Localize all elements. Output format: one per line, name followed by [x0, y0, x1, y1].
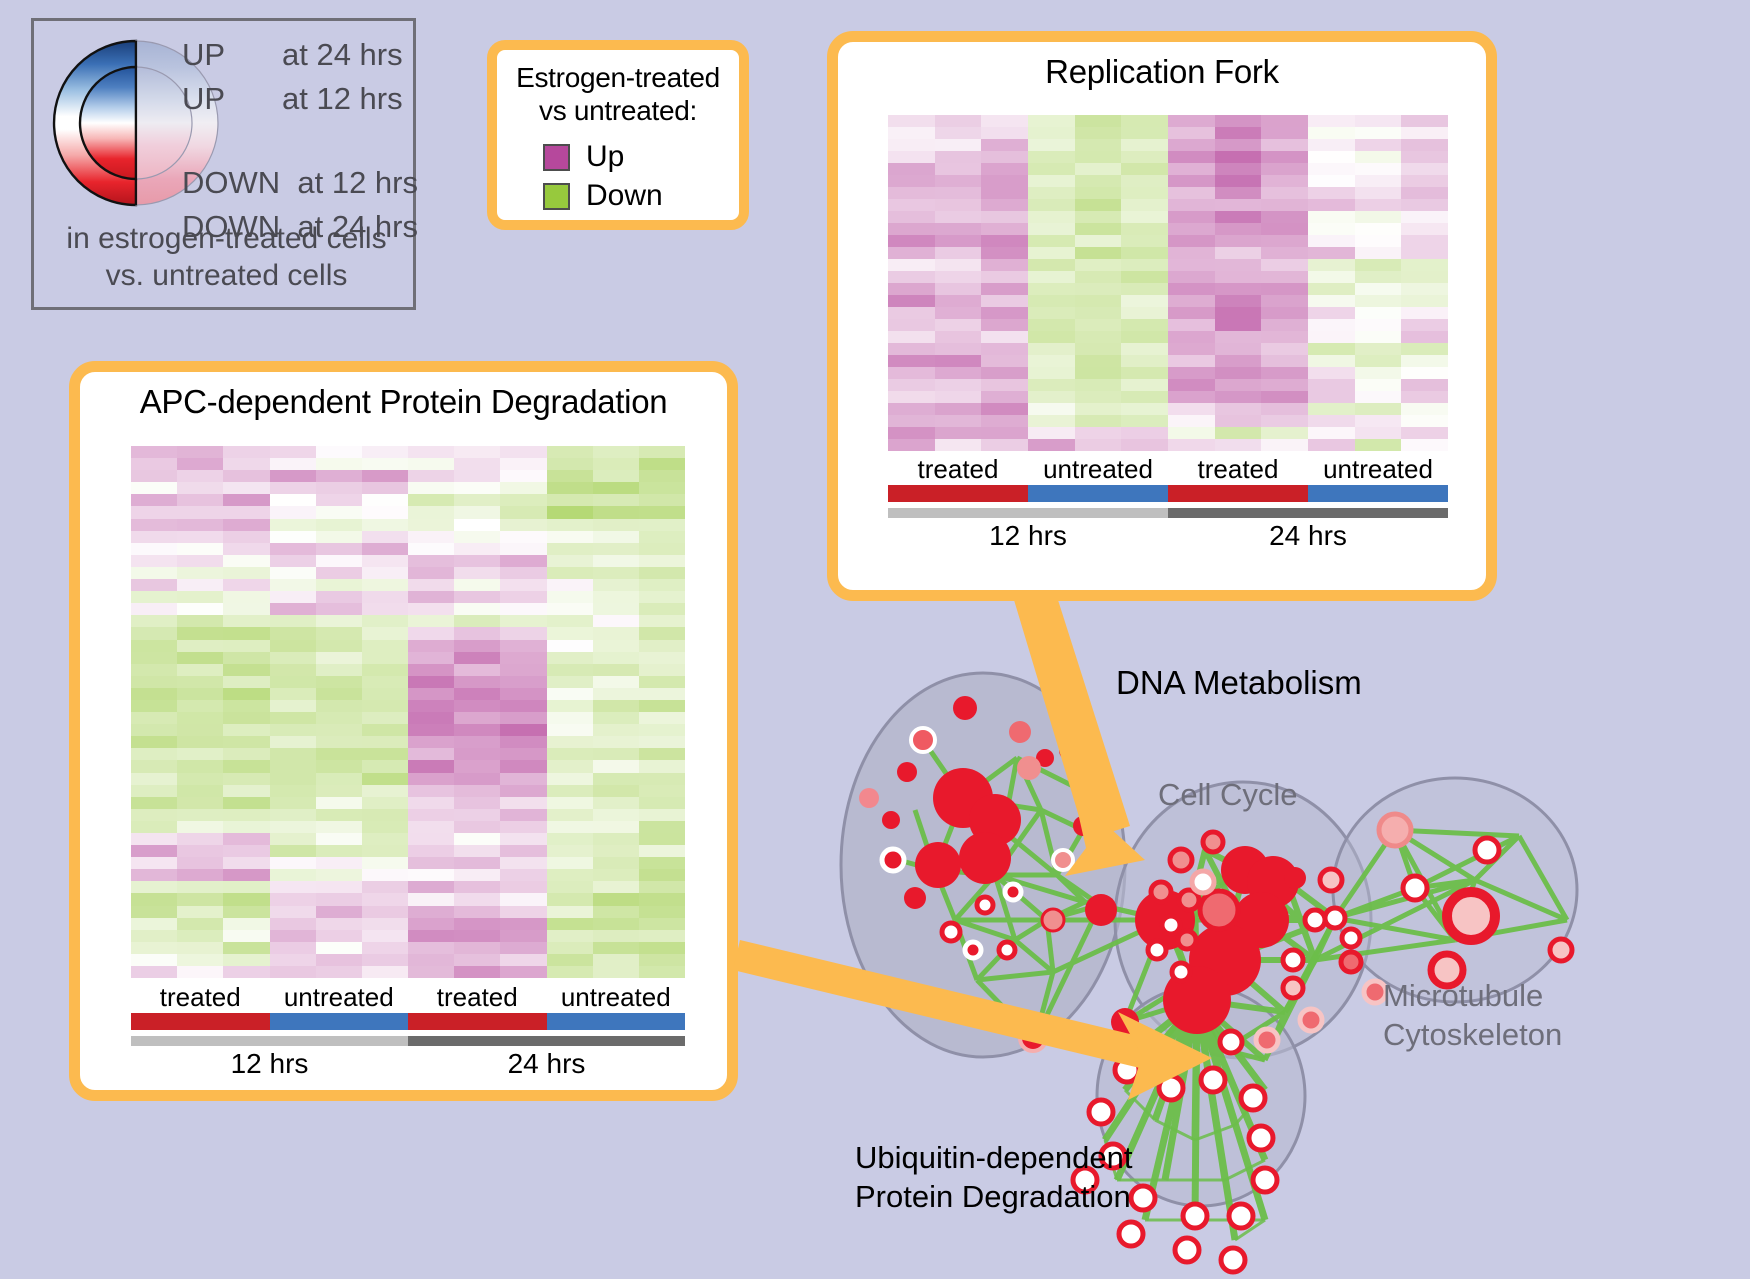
heatmap-cell: [131, 966, 177, 978]
heatmap-replication-fork: [888, 115, 1448, 451]
heatmap-cell: [1355, 187, 1402, 199]
heatmap-cell: [639, 809, 685, 821]
heatmap-cell: [316, 954, 362, 966]
network-node: [897, 762, 917, 782]
heatmap-cell: [1168, 127, 1215, 139]
heatmap-cell: [454, 688, 500, 700]
heatmap-axis-replication-fork: treated untreated treated untreated 12 h…: [888, 454, 1448, 552]
heatmap-cell: [1261, 439, 1308, 451]
heatmap-cell: [454, 930, 500, 942]
heatmap-cell: [639, 470, 685, 482]
heatmap-cell: [1401, 439, 1448, 451]
heatmap-cell: [888, 439, 935, 451]
heatmap-cell: [270, 506, 316, 518]
heatmap-cell: [1168, 391, 1215, 403]
heatmap-cell: [1401, 331, 1448, 343]
heatmap-cell: [935, 199, 982, 211]
heatmap-cell: [1168, 379, 1215, 391]
heatmap-cell: [935, 355, 982, 367]
heatmap-cell: [316, 664, 362, 676]
heatmap-cell: [1355, 235, 1402, 247]
heatmap-cell: [1168, 439, 1215, 451]
heatmap-cell: [935, 127, 982, 139]
heatmap-cell: [547, 893, 593, 905]
treatment-bar-treated-12: [131, 1013, 270, 1030]
heatmap-cell: [1355, 259, 1402, 271]
heatmap-cell: [223, 857, 269, 869]
network-node: [1059, 738, 1083, 762]
heatmap-cell: [1168, 331, 1215, 343]
heatmap-cell: [408, 797, 454, 809]
heatmap-cell: [223, 446, 269, 458]
heatmap-cell: [1168, 271, 1215, 283]
heatmap-cell: [362, 760, 408, 772]
network-node: [1342, 929, 1360, 947]
heatmap-cell: [131, 893, 177, 905]
heatmap-cell: [981, 127, 1028, 139]
network-node: [1020, 1025, 1046, 1051]
updown-legend-panel: Estrogen-treated vs untreated: Up Down: [487, 40, 749, 230]
heatmap-cell: [316, 603, 362, 615]
network-node: [1178, 931, 1196, 949]
network-node: [1200, 891, 1238, 929]
heatmap-cell: [981, 415, 1028, 427]
heatmap-cell: [223, 567, 269, 579]
network-node: [953, 696, 977, 720]
heatmap-cell: [500, 555, 546, 567]
heatmap-cell: [500, 966, 546, 978]
heatmap-cell: [362, 954, 408, 966]
heatmap-cell: [547, 821, 593, 833]
heatmap-cell: [1215, 391, 1262, 403]
cluster-label-dna-metabolism: DNA Metabolism: [1116, 664, 1362, 702]
heatmap-cell: [593, 494, 639, 506]
heatmap-cell: [362, 966, 408, 978]
heatmap-cell: [1075, 139, 1122, 151]
heatmap-cell: [362, 857, 408, 869]
network-node: [1192, 871, 1214, 893]
heatmap-cell: [316, 881, 362, 893]
heatmap-cell: [1355, 283, 1402, 295]
heatmap-cell: [1028, 439, 1075, 451]
heatmap-cell: [1168, 415, 1215, 427]
heatmap-cell: [316, 773, 362, 785]
heatmap-cell: [131, 785, 177, 797]
heatmap-cell: [935, 163, 982, 175]
heatmap-cell: [500, 531, 546, 543]
heatmap-cell: [639, 555, 685, 567]
heatmap-cell: [639, 603, 685, 615]
heatmap-cell: [454, 785, 500, 797]
heatmap-cell: [408, 652, 454, 664]
heatmap-cell: [935, 187, 982, 199]
heatmap-cell: [888, 187, 935, 199]
heatmap-cell: [316, 531, 362, 543]
heatmap-cell: [408, 833, 454, 845]
heatmap-cell: [593, 821, 639, 833]
heatmap-cell: [408, 494, 454, 506]
heatmap-cell: [1075, 235, 1122, 247]
heatmap-cell: [1168, 247, 1215, 259]
heatmap-cell: [270, 700, 316, 712]
heatmap-cell: [1121, 367, 1168, 379]
heatmap-cell: [1355, 403, 1402, 415]
network-node: [1073, 816, 1093, 836]
heatmap-cell: [177, 773, 223, 785]
colorbar-key-footer: in estrogen-treated cells vs. untreated …: [34, 221, 419, 294]
heatmap-cell: [981, 427, 1028, 439]
heatmap-cell: [1261, 235, 1308, 247]
heatmap-cell: [408, 470, 454, 482]
network-node: [1042, 909, 1064, 931]
heatmap-cell: [408, 567, 454, 579]
heatmap-cell: [408, 881, 454, 893]
heatmap-cell: [1075, 115, 1122, 127]
heatmap-cell: [408, 676, 454, 688]
heatmap-cell: [639, 821, 685, 833]
heatmap-cell: [593, 615, 639, 627]
heatmap-cell: [888, 175, 935, 187]
heatmap-cell: [270, 615, 316, 627]
heatmap-cell: [593, 506, 639, 518]
heatmap-cell: [1308, 127, 1355, 139]
heatmap-cell: [935, 331, 982, 343]
heatmap-cell: [593, 833, 639, 845]
heatmap-cell: [177, 712, 223, 724]
heatmap-cell: [888, 355, 935, 367]
heatmap-cell: [935, 235, 982, 247]
heatmap-cell: [177, 591, 223, 603]
network-node: [942, 923, 960, 941]
heatmap-cell: [131, 857, 177, 869]
heatmap-cell: [408, 893, 454, 905]
heatmap-cell: [362, 833, 408, 845]
heatmap-cell: [547, 845, 593, 857]
heatmap-cell: [547, 954, 593, 966]
heatmap-cell: [1261, 295, 1308, 307]
heatmap-cell: [316, 893, 362, 905]
heatmap-cell: [1121, 283, 1168, 295]
heatmap-cell: [500, 869, 546, 881]
heatmap-cell: [1401, 415, 1448, 427]
heatmap-cell: [888, 223, 935, 235]
heatmap-cell: [1261, 331, 1308, 343]
heatmap-cell: [270, 918, 316, 930]
heatmap-cell: [500, 845, 546, 857]
heatmap-cell: [547, 567, 593, 579]
heatmap-cell: [639, 567, 685, 579]
heatmap-cell: [639, 591, 685, 603]
heatmap-cell: [131, 773, 177, 785]
heatmap-cell: [270, 627, 316, 639]
heatmap-cell: [223, 615, 269, 627]
heatmap-cell: [593, 482, 639, 494]
heatmap-cell: [593, 736, 639, 748]
heatmap-cell: [131, 458, 177, 470]
heatmap-cell: [408, 627, 454, 639]
heatmap-cell: [1028, 127, 1075, 139]
heatmap-cell: [270, 603, 316, 615]
heatmap-cell: [935, 175, 982, 187]
heatmap-cell: [177, 833, 223, 845]
heatmap-cell: [223, 494, 269, 506]
heatmap-cell: [362, 797, 408, 809]
heatmap-cell: [547, 785, 593, 797]
heatmap-cell: [454, 760, 500, 772]
figure-root: UP at 24 hrs UP at 12 hrs DOWN at 12 hrs…: [0, 0, 1750, 1279]
heatmap-cell: [593, 700, 639, 712]
heatmap-cell: [223, 470, 269, 482]
heatmap-cell: [500, 954, 546, 966]
heatmap-cell: [547, 857, 593, 869]
heatmap-cell: [270, 954, 316, 966]
heatmap-cell: [1028, 403, 1075, 415]
heatmap-cell: [1215, 115, 1262, 127]
heatmap-cell: [500, 676, 546, 688]
key-time-up-12: at 12 hrs: [282, 83, 403, 114]
heatmap-cell: [888, 151, 935, 163]
heatmap-cell: [1075, 283, 1122, 295]
heatmap-cell: [593, 893, 639, 905]
heatmap-cell: [1168, 187, 1215, 199]
heatmap-cell: [1261, 187, 1308, 199]
heatmap-cell: [888, 379, 935, 391]
heatmap-cell: [223, 845, 269, 857]
heatmap-cell: [131, 748, 177, 760]
heatmap-cell: [1401, 379, 1448, 391]
heatmap-cell: [454, 615, 500, 627]
heatmap-cell: [1401, 307, 1448, 319]
heatmap-cell: [1028, 283, 1075, 295]
heatmap-cell: [1401, 223, 1448, 235]
heatmap-cell: [593, 652, 639, 664]
heatmap-cell: [1215, 355, 1262, 367]
group-label-untreated-12: untreated: [270, 982, 409, 1013]
heatmap-cell: [177, 930, 223, 942]
heatmap-cell: [177, 700, 223, 712]
heatmap-cell: [362, 724, 408, 736]
legend-item-up: Up: [543, 138, 729, 177]
heatmap-cell: [500, 627, 546, 639]
heatmap-cell: [1121, 415, 1168, 427]
heatmap-cell: [362, 555, 408, 567]
heatmap-cell: [935, 439, 982, 451]
heatmap-cell: [316, 519, 362, 531]
heatmap-cell: [454, 519, 500, 531]
heatmap-cell: [223, 918, 269, 930]
heatmap-cell: [1028, 319, 1075, 331]
key-time-up-24: at 24 hrs: [282, 39, 403, 70]
heatmap-cell: [1355, 151, 1402, 163]
heatmap-cell: [316, 482, 362, 494]
heatmap-cell: [1121, 343, 1168, 355]
heatmap-cell: [1401, 187, 1448, 199]
heatmap-cell: [593, 785, 639, 797]
heatmap-cell: [362, 930, 408, 942]
heatmap-cell: [270, 470, 316, 482]
heatmap-cell: [1075, 367, 1122, 379]
heatmap-cell: [454, 736, 500, 748]
heatmap-cell: [1028, 199, 1075, 211]
heatmap-cell: [1028, 367, 1075, 379]
heatmap-cell: [547, 603, 593, 615]
key-row-up-12: UP at 12 hrs: [182, 83, 418, 127]
heatmap-cell: [593, 869, 639, 881]
heatmap-cell: [1261, 427, 1308, 439]
heatmap-cell: [454, 845, 500, 857]
heatmap-cell: [1121, 259, 1168, 271]
heatmap-cell: [270, 494, 316, 506]
group-labels-apc: treated untreated treated untreated: [131, 982, 685, 1013]
heatmap-axis-apc: treated untreated treated untreated 12 h…: [131, 982, 685, 1080]
heatmap-cell: [1401, 367, 1448, 379]
treatment-bar-replication-fork: [888, 485, 1448, 502]
treatment-bar-untreated-24: [547, 1013, 686, 1030]
heatmap-cell: [1308, 211, 1355, 223]
treatment-bar-treated-12: [888, 485, 1028, 502]
heatmap-cell: [223, 966, 269, 978]
heatmap-cell: [223, 458, 269, 470]
heatmap-cell: [1028, 331, 1075, 343]
heatmap-cell: [316, 555, 362, 567]
heatmap-cell: [593, 930, 639, 942]
heatmap-cell: [223, 603, 269, 615]
heatmap-cell: [223, 676, 269, 688]
heatmap-cell: [888, 427, 935, 439]
heatmap-cell: [270, 652, 316, 664]
heatmap-cell: [223, 906, 269, 918]
heatmap-cell: [981, 211, 1028, 223]
heatmap-cell: [1028, 427, 1075, 439]
heatmap-cell: [593, 591, 639, 603]
heatmap-cell: [362, 785, 408, 797]
heatmap-cell: [177, 724, 223, 736]
heatmap-cell: [131, 664, 177, 676]
heatmap-cell: [888, 283, 935, 295]
heatmap-cell: [981, 307, 1028, 319]
heatmap-cell: [223, 652, 269, 664]
heatmap-cell: [454, 809, 500, 821]
heatmap-cell: [362, 773, 408, 785]
heatmap-cell: [1355, 343, 1402, 355]
heatmap-cell: [316, 615, 362, 627]
heatmap-cell: [1401, 391, 1448, 403]
heatmap-cell: [1355, 115, 1402, 127]
heatmap-cell: [223, 954, 269, 966]
heatmap-cell: [408, 785, 454, 797]
heatmap-cell: [981, 259, 1028, 271]
heatmap-cell: [362, 736, 408, 748]
heatmap-cell: [888, 403, 935, 415]
heatmap-cell: [362, 458, 408, 470]
cluster-label-cell-cycle: Cell Cycle: [1158, 777, 1298, 813]
heatmap-cell: [547, 664, 593, 676]
heatmap-cell: [1121, 211, 1168, 223]
heatmap-cell: [547, 869, 593, 881]
heatmap-cell: [408, 930, 454, 942]
heatmap-cell: [1168, 211, 1215, 223]
network-node: [1341, 952, 1361, 972]
heatmap-cell: [639, 736, 685, 748]
group-label-untreated-12: untreated: [1028, 454, 1168, 485]
heatmap-cell: [408, 748, 454, 760]
heatmap-cell: [223, 519, 269, 531]
heatmap-cell: [547, 942, 593, 954]
heatmap-cell: [177, 954, 223, 966]
heatmap-cell: [454, 797, 500, 809]
heatmap-cell: [1215, 223, 1262, 235]
heatmap-cell: [1075, 223, 1122, 235]
heatmap-cell: [316, 930, 362, 942]
heatmap-cell: [408, 712, 454, 724]
heatmap-cell: [1308, 259, 1355, 271]
heatmap-cell: [177, 760, 223, 772]
heatmap-cell: [888, 391, 935, 403]
heatmap-cell: [362, 591, 408, 603]
heatmap-cell: [454, 446, 500, 458]
heatmap-cell: [362, 893, 408, 905]
heatmap-cell: [362, 821, 408, 833]
heatmap-cell: [408, 736, 454, 748]
network-node: [1300, 1009, 1322, 1031]
heatmap-cell: [981, 223, 1028, 235]
heatmap-cell: [270, 797, 316, 809]
heatmap-cell: [500, 506, 546, 518]
heatmap-cell: [131, 603, 177, 615]
heatmap-cell: [547, 458, 593, 470]
heatmap-cell: [362, 446, 408, 458]
heatmap-cell: [1168, 199, 1215, 211]
heatmap-cell: [131, 591, 177, 603]
heatmap-cell: [454, 724, 500, 736]
heatmap-cell: [1075, 391, 1122, 403]
network-node: [999, 942, 1015, 958]
heatmap-cell: [981, 295, 1028, 307]
network-node: [1111, 1008, 1139, 1036]
heatmap-cell: [1401, 163, 1448, 175]
heatmap-cell: [547, 676, 593, 688]
heatmap-cell: [316, 640, 362, 652]
heatmap-cell: [639, 857, 685, 869]
heatmap-cell: [935, 295, 982, 307]
heatmap-cell: [500, 906, 546, 918]
heatmap-cell: [270, 724, 316, 736]
network-node: [1085, 894, 1117, 926]
heatmap-cell: [223, 797, 269, 809]
heatmap-cell: [316, 506, 362, 518]
network-node: [1229, 1204, 1253, 1228]
heatmap-cell: [408, 954, 454, 966]
network-node: [1320, 869, 1342, 891]
heatmap-cell: [131, 724, 177, 736]
heatmap-cell: [362, 579, 408, 591]
time-label-24hrs: 24 hrs: [408, 1048, 685, 1080]
heatmap-cell: [1121, 295, 1168, 307]
heatmap-cell: [639, 869, 685, 881]
heatmap-cell: [177, 821, 223, 833]
heatmap-cell: [408, 458, 454, 470]
heatmap-cell: [408, 531, 454, 543]
heatmap-cell: [1355, 379, 1402, 391]
time-bar-apc: [131, 1036, 685, 1046]
heatmap-cell: [639, 519, 685, 531]
heatmap-cell: [454, 470, 500, 482]
treatment-bar-untreated-12: [1028, 485, 1168, 502]
heatmap-cell: [639, 494, 685, 506]
heatmap-cell: [1308, 139, 1355, 151]
heatmap-cell: [454, 966, 500, 978]
heatmap-cell: [639, 930, 685, 942]
